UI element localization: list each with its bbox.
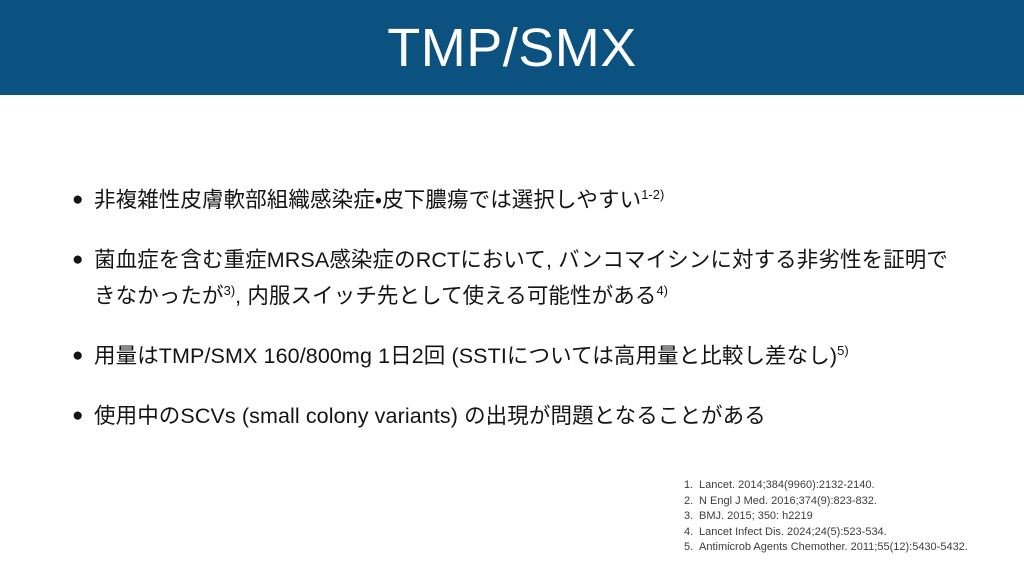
bullet-dot-icon: ● <box>68 243 94 277</box>
bullet-line: 非複雑性皮膚軟部組織感染症・皮下膿瘍では選択しやすい1-2) <box>94 183 978 217</box>
bullet-text: 使用中のSCVs (small colony variants) の出現が問題と… <box>94 399 978 433</box>
bullet-item: ●用量はTMP/SMX 160/800mg 1日2回 (SSTIについては高用量… <box>68 339 978 373</box>
bullet-text-run: きなかったが <box>94 284 224 308</box>
reference-item: 4.Lancet Infect Dis. 2024;24(5):523-534. <box>684 525 1014 541</box>
reference-number: 5. <box>684 540 699 556</box>
reference-number: 3. <box>684 509 699 525</box>
reference-item: 2.N Engl J Med. 2016;374(9):823-832. <box>684 494 1014 510</box>
citation-superscript: 3) <box>224 283 236 298</box>
bullet-text-run: 用量はTMP/SMX 160/800mg 1日2回 (SSTIについては高用量と… <box>94 344 837 368</box>
bullet-dot-icon: ● <box>68 339 94 373</box>
reference-citation: Lancet. 2014;384(9960):2132-2140. <box>699 478 1014 494</box>
bullet-text-run: 菌血症を含む重症MRSA感染症のRCTにおいて, バンコマイシンに対する非劣性を… <box>94 248 948 272</box>
reference-item: 1.Lancet. 2014;384(9960):2132-2140. <box>684 478 1014 494</box>
reference-item: 3.BMJ. 2015; 350: h2219 <box>684 509 1014 525</box>
reference-item: 5.Antimicrob Agents Chemother. 2011;55(1… <box>684 540 1014 556</box>
bullet-dot-icon: ● <box>68 183 94 217</box>
bullet-text-run: , 内服スイッチ先として使える可能性がある <box>235 284 656 308</box>
bullet-line: きなかったが3), 内服スイッチ先として使える可能性がある4) <box>94 279 978 313</box>
bullet-text: 非複雑性皮膚軟部組織感染症・皮下膿瘍では選択しやすい1-2) <box>94 183 978 217</box>
citation-superscript: 5) <box>837 343 849 358</box>
page-title: TMP/SMX <box>387 21 637 75</box>
reference-number: 1. <box>684 478 699 494</box>
bullet-dot-icon: ● <box>68 399 94 433</box>
reference-number: 4. <box>684 525 699 541</box>
reference-citation: BMJ. 2015; 350: h2219 <box>699 509 1014 525</box>
bullet-item: ●使用中のSCVs (small colony variants) の出現が問題… <box>68 399 978 433</box>
reference-citation: Antimicrob Agents Chemother. 2011;55(12)… <box>699 540 1014 556</box>
citation-superscript: 4) <box>656 283 668 298</box>
reference-citation: Lancet Infect Dis. 2024;24(5):523-534. <box>699 525 1014 541</box>
slide-body: ●非複雑性皮膚軟部組織感染症・皮下膿瘍では選択しやすい1-2)●菌血症を含む重症… <box>0 95 1024 576</box>
reference-citation: N Engl J Med. 2016;374(9):823-832. <box>699 494 1014 510</box>
slide-header-band: TMP/SMX <box>0 0 1024 95</box>
bullet-text: 菌血症を含む重症MRSA感染症のRCTにおいて, バンコマイシンに対する非劣性を… <box>94 243 978 313</box>
bullet-text: 用量はTMP/SMX 160/800mg 1日2回 (SSTIについては高用量と… <box>94 339 978 373</box>
reference-list: 1.Lancet. 2014;384(9960):2132-2140.2.N E… <box>684 478 1014 556</box>
bullet-line: 用量はTMP/SMX 160/800mg 1日2回 (SSTIについては高用量と… <box>94 339 978 373</box>
bullet-line: 菌血症を含む重症MRSA感染症のRCTにおいて, バンコマイシンに対する非劣性を… <box>94 243 978 277</box>
bullet-text-run: 非複雑性皮膚軟部組織感染症・皮下膿瘍では選択しやすい <box>94 188 641 212</box>
bullet-list: ●非複雑性皮膚軟部組織感染症・皮下膿瘍では選択しやすい1-2)●菌血症を含む重症… <box>68 183 978 433</box>
reference-number: 2. <box>684 494 699 510</box>
citation-superscript: 1-2) <box>641 187 664 202</box>
bullet-text-run: 使用中のSCVs (small colony variants) の出現が問題と… <box>94 404 766 428</box>
bullet-item: ●非複雑性皮膚軟部組織感染症・皮下膿瘍では選択しやすい1-2) <box>68 183 978 217</box>
bullet-item: ●菌血症を含む重症MRSA感染症のRCTにおいて, バンコマイシンに対する非劣性… <box>68 243 978 313</box>
bullet-line: 使用中のSCVs (small colony variants) の出現が問題と… <box>94 399 978 433</box>
